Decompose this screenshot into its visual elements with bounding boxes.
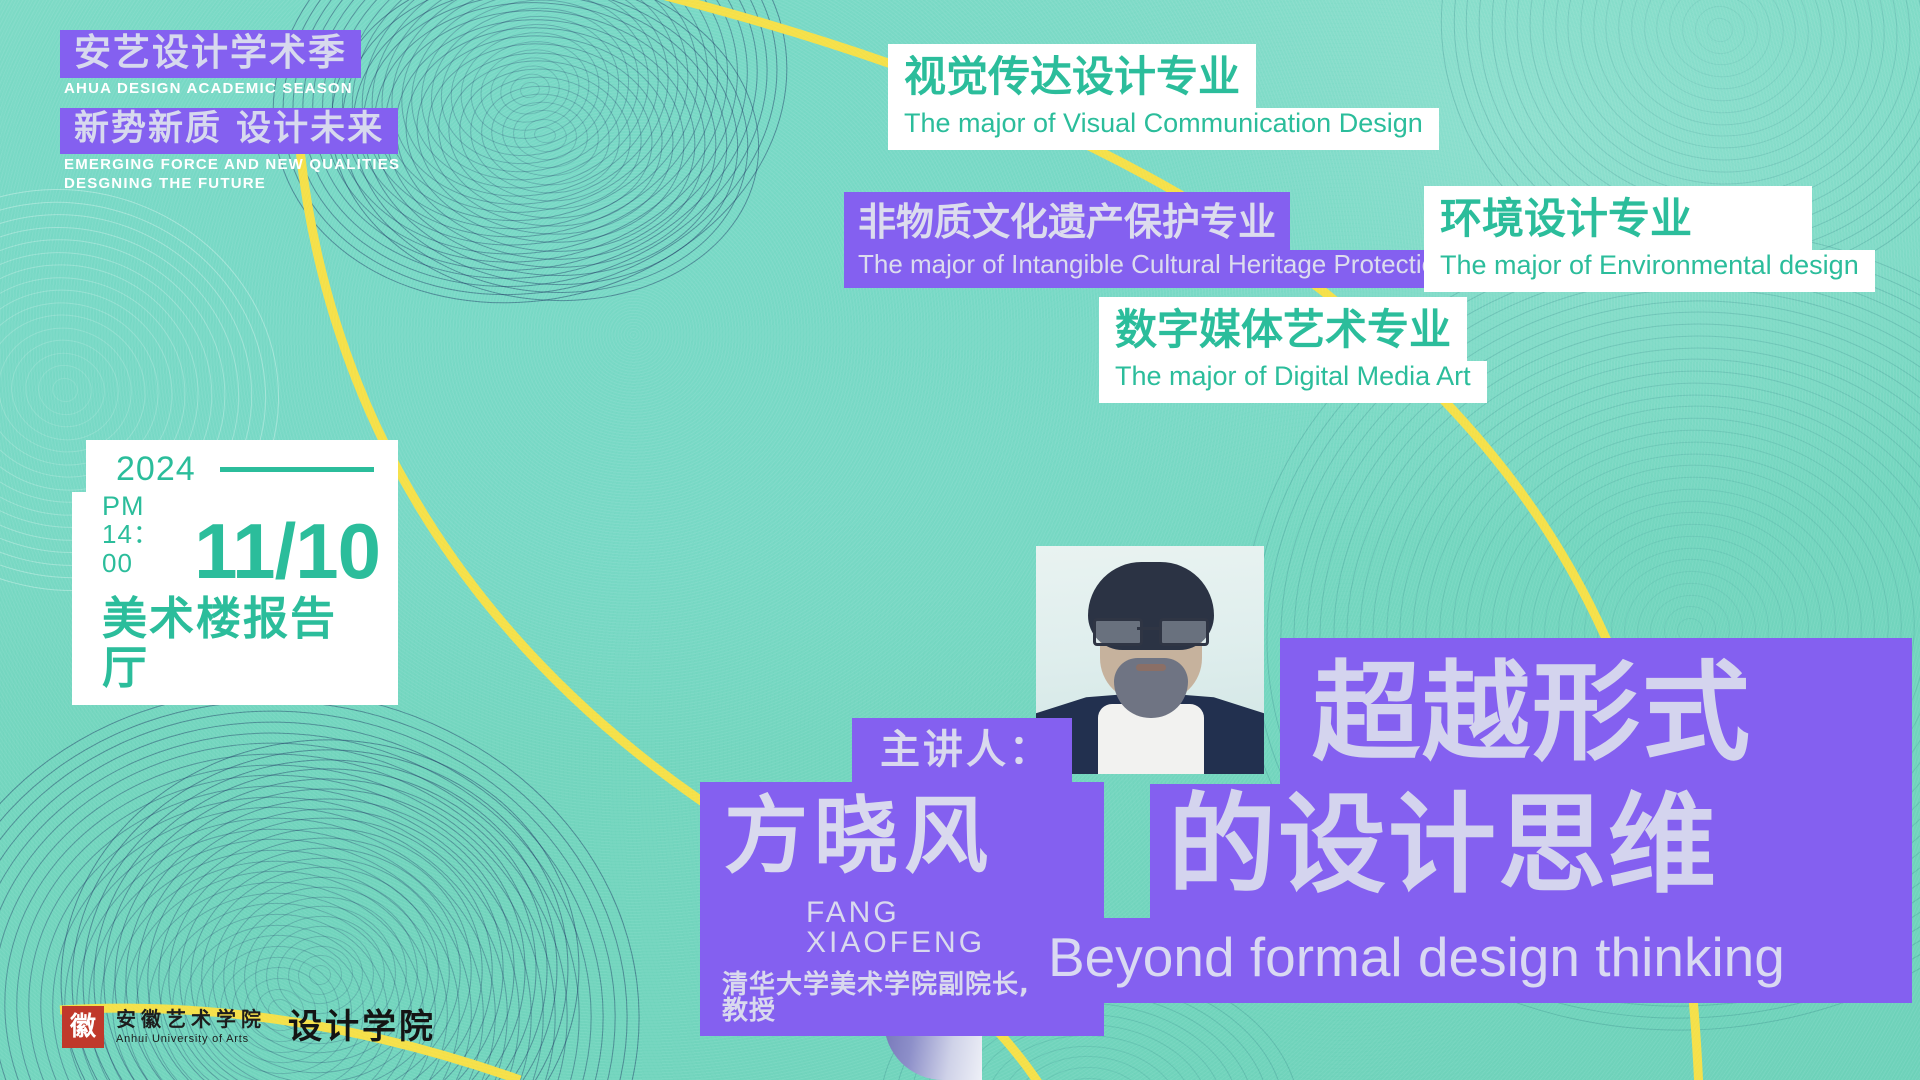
major-card-digital-media-art: 数字媒体艺术专业 The major of Digital Media Art	[1099, 297, 1487, 403]
masthead-title-en: AHUA DESIGN ACADEMIC SEASON	[64, 81, 400, 98]
major-name-en: The major of Environmental design	[1424, 250, 1875, 292]
major-name-cn: 非物质文化遗产保护专业	[844, 192, 1290, 250]
masthead-subtitle-en-line2: DESGNING THE FUTURE	[64, 176, 400, 193]
university-name-en: Anhui University of Arts	[116, 1034, 266, 1045]
major-name-cn: 环境设计专业	[1424, 186, 1812, 250]
university-name-cn: 安徽艺术学院	[116, 1009, 266, 1029]
major-card-visual-communication: 视觉传达设计专业 The major of Visual Communicati…	[888, 44, 1439, 150]
major-name-en: The major of Digital Media Art	[1099, 361, 1487, 403]
footer-logo: 徽 安徽艺术学院 Anhui University of Arts 设计学院	[62, 1006, 436, 1048]
event-time-group: PM 14：00	[102, 492, 180, 588]
event-time-row: PM 14：00 11/10	[72, 492, 398, 592]
speaker-role-label: 主讲人：	[852, 718, 1072, 782]
event-time: 14：00	[102, 520, 180, 577]
lecture-title-en: Beyond formal design thinking	[1030, 918, 1912, 1003]
major-card-environmental-design: 环境设计专业 The major of Environmental design	[1424, 186, 1875, 292]
masthead-title-cn: 安艺设计学术季	[60, 30, 361, 78]
lecture-title-cn-line1: 超越形式	[1280, 638, 1912, 784]
lecture-title-block: 超越形式 的设计思维 Beyond formal design thinking	[1280, 638, 1912, 1003]
divider-rule	[220, 467, 374, 472]
speaker-name-cn: 方晓风	[700, 782, 1104, 894]
university-name-group: 安徽艺术学院 Anhui University of Arts	[116, 1009, 266, 1045]
event-year-row: 2024	[86, 440, 398, 492]
poster-canvas: 安艺设计学术季 AHUA DESIGN ACADEMIC SEASON 新势新质…	[0, 0, 1920, 1080]
major-name-cn: 视觉传达设计专业	[888, 44, 1256, 108]
glasses-icon	[1093, 618, 1209, 640]
event-datetime-card: 2024 PM 14：00 11/10 美术楼报告厅	[72, 440, 398, 705]
lecture-title-cn-line2: 的设计思维	[1150, 784, 1912, 918]
event-year: 2024	[116, 452, 196, 486]
event-date: 11/10	[194, 516, 380, 588]
major-card-intangible-cultural-heritage: 非物质文化遗产保护专业 The major of Intangible Cult…	[844, 192, 1465, 288]
event-venue: 美术楼报告厅	[72, 592, 398, 705]
masthead-subtitle-en-line1: EMERGING FORCE AND NEW QUALITIES	[64, 157, 400, 174]
department-name-cn: 设计学院	[288, 1010, 436, 1044]
major-name-en: The major of Intangible Cultural Heritag…	[844, 250, 1465, 288]
major-name-en: The major of Visual Communication Design	[888, 108, 1439, 150]
portrait-mouth	[1136, 664, 1166, 671]
masthead: 安艺设计学术季 AHUA DESIGN ACADEMIC SEASON 新势新质…	[60, 30, 400, 192]
event-meridiem: PM	[102, 492, 180, 520]
masthead-subtitle-cn: 新势新质 设计未来	[60, 108, 398, 154]
major-name-cn: 数字媒体艺术专业	[1099, 297, 1467, 361]
seal-icon: 徽	[62, 1006, 104, 1048]
